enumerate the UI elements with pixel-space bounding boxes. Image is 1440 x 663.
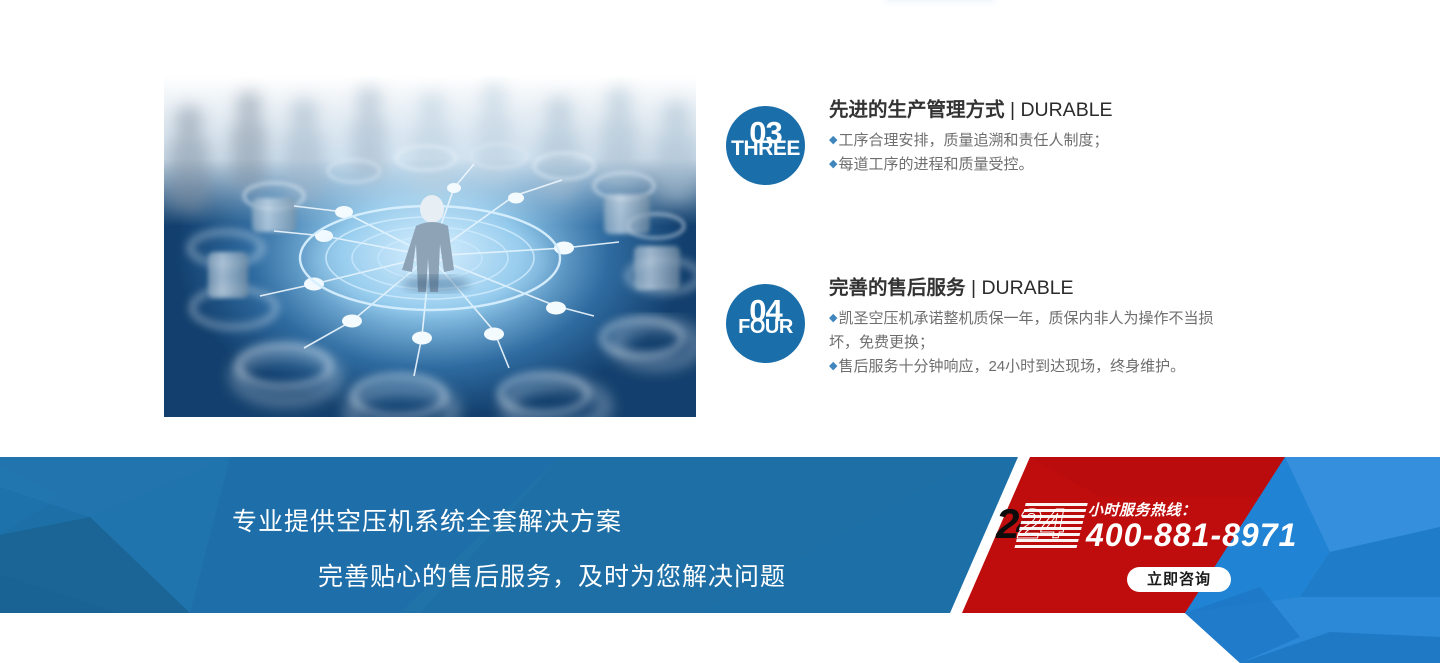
bottom-cta-banner (0, 457, 1440, 663)
consult-now-button[interactable]: 立即咨询 (1127, 567, 1231, 592)
step-badge-04: 04 FOUR (726, 284, 805, 363)
list-item: ◆每道工序的进程和质量受控。 (829, 153, 1113, 177)
list-item-text: 售后服务十分钟响应，24小时到达现场，终身维护。 (838, 358, 1185, 375)
feature-body: 先进的生产管理方式 | DURABLE ◆工序合理安排，质量追溯和责任人制度； … (829, 98, 1113, 177)
feature-body: 完善的售后服务 | DURABLE ◆凯圣空压机承诺整机质保一年，质保内非人为操… (829, 276, 1239, 378)
feature-block-03: 03 THREE 先进的生产管理方式 | DURABLE ◆工序合理安排，质量追… (726, 98, 1113, 185)
step-word: FOUR (726, 317, 805, 337)
bullet-diamond-icon: ◆ (829, 360, 837, 372)
top-edge-artifact (885, 0, 995, 6)
list-item-text: 每道工序的进程和质量受控。 (838, 156, 1033, 173)
feature-title-en: DURABLE (981, 277, 1073, 299)
network-illustration-graphic (164, 76, 696, 417)
list-item-text: 凯圣空压机承诺整机质保一年，质保内非人为操作不当损坏，免费更换； (829, 310, 1213, 351)
feature-block-04: 04 FOUR 完善的售后服务 | DURABLE ◆凯圣空压机承诺整机质保一年… (726, 276, 1239, 378)
bullet-diamond-icon: ◆ (829, 158, 837, 170)
feature-title-separator: | (1010, 99, 1015, 121)
step-badge-03: 03 THREE (726, 106, 805, 185)
feature-list: ◆凯圣空压机承诺整机质保一年，质保内非人为操作不当损坏，免费更换； ◆售后服务十… (829, 307, 1239, 378)
bullet-diamond-icon: ◆ (829, 134, 837, 146)
feature-title-en: DURABLE (1020, 99, 1112, 121)
banner-background-graphic (0, 457, 1440, 663)
feature-title-separator: | (971, 277, 976, 299)
list-item-text: 工序合理安排，质量追溯和责任人制度； (838, 132, 1108, 149)
feature-list: ◆工序合理安排，质量追溯和责任人制度； ◆每道工序的进程和质量受控。 (829, 129, 1113, 176)
list-item: ◆售后服务十分钟响应，24小时到达现场，终身维护。 (829, 355, 1239, 379)
list-item: ◆工序合理安排，质量追溯和责任人制度； (829, 129, 1113, 153)
step-word: THREE (726, 138, 805, 159)
list-item: ◆凯圣空压机承诺整机质保一年，质保内非人为操作不当损坏，免费更换； (829, 307, 1239, 354)
network-illustration-image (164, 76, 696, 417)
feature-title: 先进的生产管理方式 | DURABLE (829, 98, 1113, 122)
bullet-diamond-icon: ◆ (829, 312, 837, 324)
feature-title-cn: 先进的生产管理方式 (829, 99, 1005, 121)
feature-title-cn: 完善的售后服务 (829, 277, 966, 299)
feature-title: 完善的售后服务 | DURABLE (829, 276, 1239, 300)
